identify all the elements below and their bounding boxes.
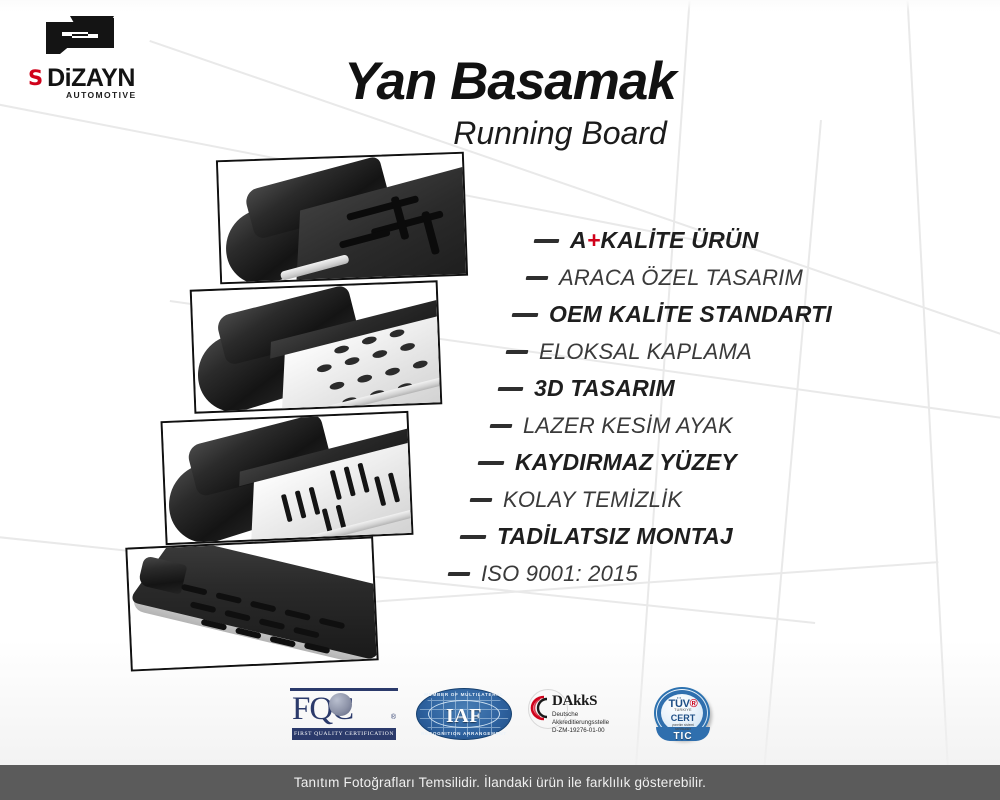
feature-label: TADİLATSIZ MONTAJ (497, 523, 733, 550)
globe-icon (329, 693, 352, 716)
feature-label: 3D TASARIM (534, 375, 675, 402)
dakks-line-3: D-ZM-19276-01-00 (552, 727, 609, 735)
s-dizayn-logo-icon (40, 14, 120, 62)
list-item: 3D TASARIM (498, 370, 910, 407)
iaf-letters: IAF (416, 705, 512, 728)
brand-name: DiZAYN (47, 66, 135, 91)
bullet-dash-icon (512, 313, 539, 317)
feature-label: ELOKSAL KAPLAMA (539, 339, 752, 365)
photo-1-image (218, 154, 466, 282)
bullet-dash-icon (498, 387, 524, 391)
bullet-dash-icon (534, 239, 560, 243)
list-item: LAZER KESİM AYAK (490, 407, 910, 444)
feature-label: KAYDIRMAZ YÜZEY (515, 449, 737, 476)
bullet-dash-icon (490, 424, 513, 428)
list-item: KOLAY TEMİZLİK (470, 481, 910, 518)
list-item: ARACA ÖZEL TASARIM (526, 259, 910, 296)
footer-disclaimer-bar: Tanıtım Fotoğrafları Temsilidir. İlandak… (0, 765, 1000, 800)
list-item: KAYDIRMAZ YÜZEY (478, 444, 910, 481)
iaf-arc-top-text: MEMBER OF MULTILATERAL (416, 692, 512, 697)
feature-list: A+KALİTE ÜRÜN ARACA ÖZEL TASARIM OEM KAL… (440, 222, 910, 592)
footer-disclaimer-text: Tanıtım Fotoğrafları Temsilidir. İlandak… (294, 775, 706, 790)
brand-logo: S DiZAYN AUTOMOTIVE (20, 14, 170, 99)
list-item: ISO 9001: 2015 (448, 555, 910, 592)
bullet-dash-icon (478, 461, 505, 465)
running-board-photo-2 (190, 280, 443, 413)
dakks-letters: DAkkS (552, 693, 597, 710)
bullet-dash-icon (506, 350, 529, 354)
bullet-dash-icon (448, 572, 471, 576)
dakks-arc-icon (530, 695, 550, 721)
certification-badges: FQC ® FIRST QUALITY CERTIFICATION MEMBER… (290, 683, 720, 745)
feature-label: KOLAY TEMİZLİK (503, 487, 682, 513)
iaf-badge: MEMBER OF MULTILATERAL IAF RECOGNITION A… (416, 688, 512, 740)
list-item: ELOKSAL KAPLAMA (506, 333, 910, 370)
list-item: A+KALİTE ÜRÜN (534, 222, 910, 259)
product-banner: S DiZAYN AUTOMOTIVE Yan Basamak Running … (0, 0, 1000, 800)
dakks-detail-text: Deutsche Akkreditierungsstelle D-ZM-1927… (552, 711, 609, 735)
fqc-registered-mark: ® (391, 714, 396, 721)
running-board-photo-3 (161, 411, 414, 545)
tuv-sub-text: TURKIYE (652, 708, 714, 712)
tuv-tic-text: TIC (652, 731, 714, 742)
brand-wordmark: S DiZAYN (28, 66, 135, 91)
photo-4-image (127, 539, 376, 670)
feature-label: ISO 9001: 2015 (481, 561, 638, 587)
page-title: Yan Basamak (300, 55, 720, 108)
brand-mark-letter: S (28, 68, 42, 89)
feature-label: LAZER KESİM AYAK (523, 413, 733, 439)
fqc-badge: FQC ® FIRST QUALITY CERTIFICATION (290, 686, 398, 742)
dakks-badge: DAkkS Deutsche Akkreditierungsstelle D-Z… (530, 687, 634, 741)
feature-label: ARACA ÖZEL TASARIM (559, 265, 803, 291)
list-item: TADİLATSIZ MONTAJ (460, 518, 910, 555)
fqc-band-text: FIRST QUALITY CERTIFICATION (292, 728, 396, 740)
tuv-badge: TÜV® TURKIYE CERT yonetim sistemi sertif… (652, 685, 714, 743)
photo-3-image (163, 413, 412, 543)
dakks-line-2: Akkreditierungsstelle (552, 719, 609, 727)
feature-label: OEM KALİTE STANDARTI (549, 301, 832, 328)
dakks-line-1: Deutsche (552, 711, 609, 719)
list-item: OEM KALİTE STANDARTI (512, 296, 910, 333)
tuv-cert-text: CERT (652, 713, 714, 723)
running-board-photo-1 (216, 152, 468, 285)
brand-tagline: AUTOMOTIVE (66, 90, 137, 100)
bullet-dash-icon (470, 498, 493, 502)
bullet-dash-icon (526, 276, 549, 280)
tuv-tiny-text: yonetim sistemi sertifikalidir (652, 723, 714, 731)
feature-label: A+KALİTE ÜRÜN (570, 227, 759, 254)
page-subtitle: Running Board (330, 115, 790, 152)
running-board-photo-4 (125, 536, 378, 671)
bullet-dash-icon (460, 535, 487, 539)
photo-2-image (192, 282, 440, 411)
iaf-arc-bottom-text: RECOGNITION ARRANGEMENT (416, 731, 512, 736)
